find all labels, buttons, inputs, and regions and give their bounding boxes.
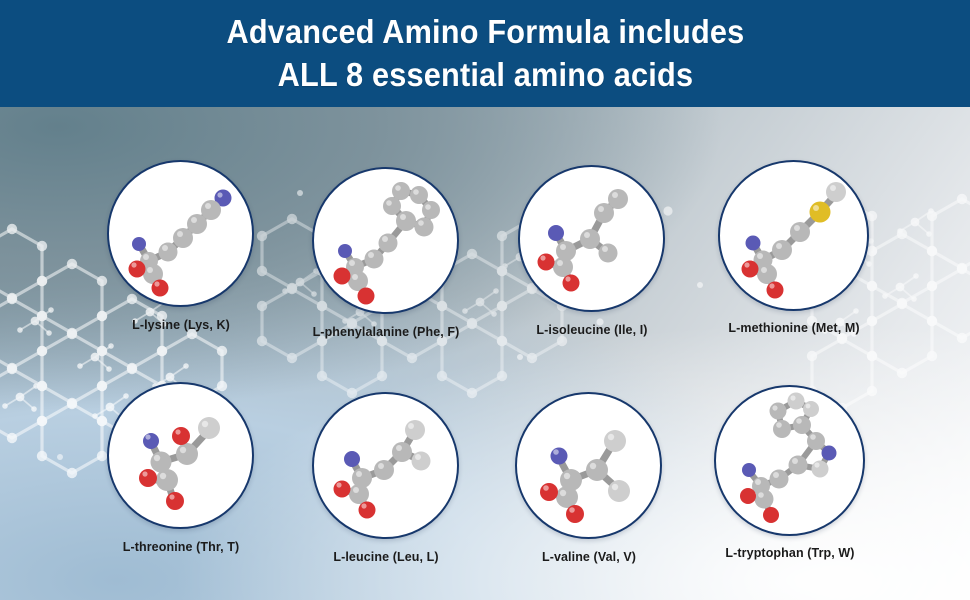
atom-oxygen: [129, 261, 146, 278]
atom-nitrogen: [746, 236, 761, 251]
molecule-bubble-valine: [515, 392, 662, 539]
atom-oxygen: [358, 288, 375, 305]
atom-oxygen: [152, 280, 169, 297]
molecule-label-leucine: L-leucine (Leu, L): [333, 550, 438, 564]
tryptophan-structure: [716, 387, 863, 534]
atom-oxygen: [359, 502, 376, 519]
molecule-grid: L-lysine (Lys, K): [0, 107, 970, 600]
molecule-label-phenylalanine: L-phenylalanine (Phe, F): [313, 325, 460, 339]
atom-nitrogen: [742, 463, 756, 477]
molecule-card-lysine[interactable]: L-lysine (Lys, K): [107, 160, 255, 360]
threonine-structure: [109, 384, 252, 527]
molecule-card-tryptophan[interactable]: L-tryptophan (Trp, W): [714, 385, 866, 590]
phenylalanine-structure: [314, 169, 457, 312]
atom-oxygen: [566, 505, 584, 523]
atom-oxygen: [538, 254, 555, 271]
molecule-card-isoleucine[interactable]: L-isoleucine (Ile, I): [518, 165, 666, 365]
methionine-structure: [720, 162, 867, 309]
atom-nitrogen: [822, 446, 837, 461]
atom-nitrogen: [551, 448, 568, 465]
atom-oxygen: [334, 481, 351, 498]
molecule-label-threonine: L-threonine (Thr, T): [123, 540, 240, 554]
page-title: Advanced Amino Formula includes ALL 8 es…: [226, 11, 744, 95]
molecule-label-valine: L-valine (Val, V): [542, 550, 636, 564]
atom-oxygen: [172, 427, 190, 445]
molecule-card-threonine[interactable]: L-threonine (Thr, T): [107, 382, 255, 582]
molecule-label-tryptophan: L-tryptophan (Trp, W): [725, 546, 854, 560]
atom-oxygen: [166, 492, 184, 510]
atom-oxygen: [540, 483, 558, 501]
molecule-label-methionine: L-methionine (Met, M): [728, 321, 859, 335]
atom-sulfur: [810, 202, 831, 223]
atom-nitrogen: [143, 433, 159, 449]
molecule-card-methionine[interactable]: L-methionine (Met, M): [718, 160, 870, 365]
lysine-structure: [109, 162, 252, 305]
molecule-bubble-isoleucine: [518, 165, 665, 312]
molecule-bubble-methionine: [718, 160, 869, 311]
molecule-card-valine[interactable]: L-valine (Val, V): [515, 392, 663, 592]
atom-oxygen: [563, 275, 580, 292]
molecule-label-lysine: L-lysine (Lys, K): [132, 318, 230, 332]
atom-nitrogen: [344, 451, 360, 467]
molecule-bubble-leucine: [312, 392, 459, 539]
molecule-label-isoleucine: L-isoleucine (Ile, I): [536, 323, 647, 337]
atom-oxygen: [740, 488, 756, 504]
isoleucine-structure: [520, 167, 663, 310]
molecule-card-phenylalanine[interactable]: L-phenylalanine (Phe, F): [312, 167, 460, 367]
atom-nitrogen: [132, 237, 146, 251]
molecule-card-leucine[interactable]: L-leucine (Leu, L): [312, 392, 460, 592]
atom-oxygen: [767, 282, 784, 299]
atom-oxygen: [334, 268, 351, 285]
atom-oxygen: [763, 507, 779, 523]
atom-oxygen: [139, 469, 157, 487]
leucine-structure: [314, 394, 457, 537]
atom-oxygen: [742, 261, 759, 278]
header-banner: Advanced Amino Formula includes ALL 8 es…: [0, 0, 970, 107]
molecule-bubble-tryptophan: [714, 385, 865, 536]
molecule-bubble-lysine: [107, 160, 254, 307]
molecule-bubble-phenylalanine: [312, 167, 459, 314]
valine-structure: [517, 394, 660, 537]
atom-nitrogen: [548, 225, 564, 241]
atom-nitrogen: [338, 244, 352, 258]
molecule-bubble-threonine: [107, 382, 254, 529]
amino-acid-infographic: Advanced Amino Formula includes ALL 8 es…: [0, 0, 970, 600]
